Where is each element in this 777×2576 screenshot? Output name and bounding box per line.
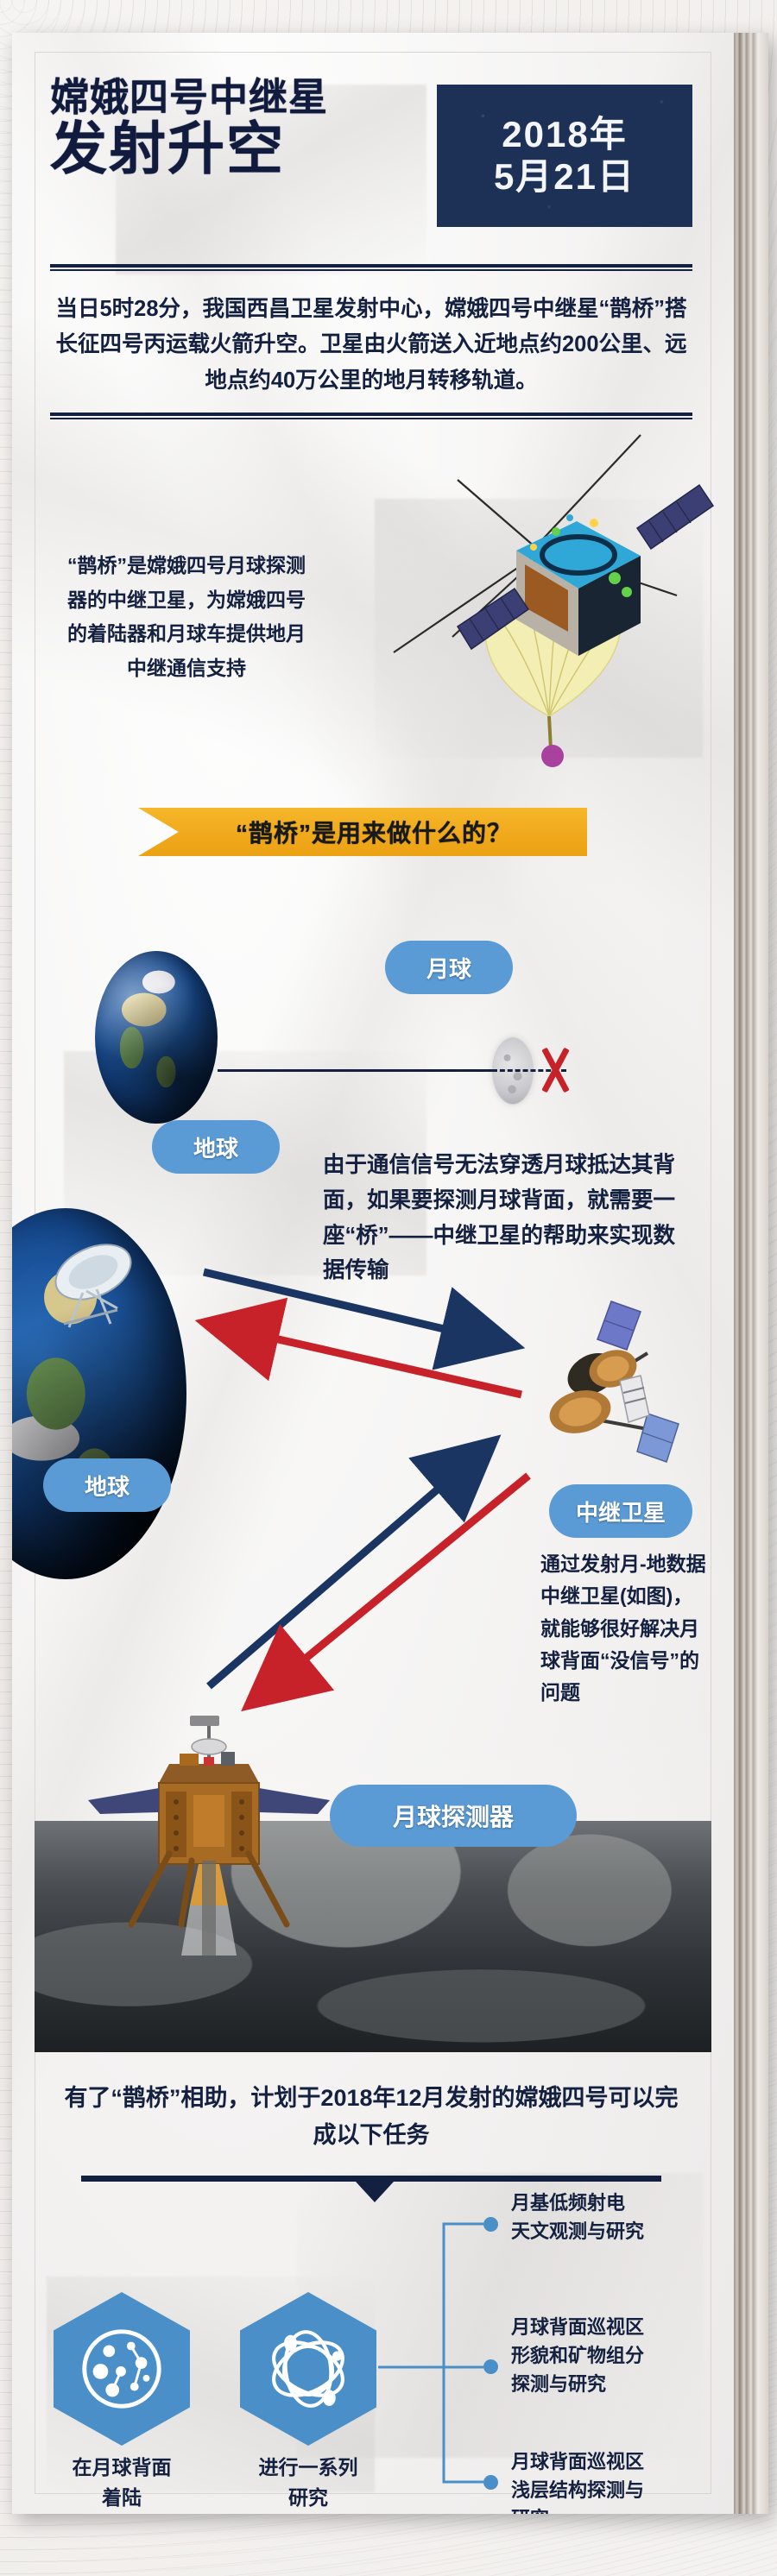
page-title: 嫦娥四号中继星 发射升空	[50, 78, 421, 177]
task-dot	[483, 2217, 498, 2232]
moon-craters-icon	[75, 2322, 168, 2415]
hexagon-label-research: 进行一系列研究	[231, 2453, 386, 2512]
label-moon: 月球	[385, 941, 513, 994]
relay-diagram: 地球 中继卫星 通过发射月-地数据中继卫星(如图)，就能够很好解决月球背面“没信…	[12, 1241, 734, 1690]
satellite-section: “鹊桥”是嫦娥四号月球探测器的中继卫星，为嫦娥四号的着陆器和月球车提供地月中继通…	[12, 438, 734, 784]
label-relay-satellite: 中继卫星	[549, 1484, 692, 1538]
relay-paragraph: 通过发射月-地数据中继卫星(如图)，就能够很好解决月球背面“没信号”的问题	[540, 1548, 710, 1709]
signal-path-line	[218, 1069, 492, 1072]
task-dot	[483, 2359, 498, 2374]
intro-paragraph: 当日5时28分，我国西昌卫星发射中心，嫦娥四号中继星“鹊桥”搭长征四号丙运载火箭…	[50, 292, 692, 399]
earth-globe	[95, 951, 218, 1124]
task-item: 月球背面巡视区形貌和矿物组分探测与研究	[511, 2313, 696, 2398]
task-item: 月基低频射电天文观测与研究	[511, 2189, 696, 2245]
atom-orbit-icon	[260, 2321, 357, 2417]
date-day: 5月21日	[494, 158, 635, 196]
section-banner-text: “鹊桥”是用来做什么的？	[213, 815, 512, 849]
label-earth: 地球	[152, 1120, 280, 1174]
infographic-page: 嫦娥四号中继星 发射升空 2018年 5月21日 当日5时28分，我国西昌卫星发…	[12, 33, 734, 2514]
divider-top	[50, 264, 692, 271]
label-earth-large: 地球	[43, 1458, 171, 1512]
date-year: 2018年	[502, 116, 627, 154]
title-line-secondary: 发射升空	[50, 120, 421, 177]
queqiao-relay-satellite-illustration	[356, 426, 718, 772]
satellite-caption: “鹊桥”是嫦娥四号月球探测器的中继卫星，为嫦娥四号的着陆器和月球车提供地月中继通…	[62, 549, 311, 685]
tasks-divider	[81, 2176, 661, 2182]
earth-moon-diagram: 月球 地球 由于通信信号无法穿透月球抵达其背面，如果要探测月球背面，就需要一座“…	[12, 879, 734, 1250]
lunar-surface-scene: 月球探测器	[35, 1690, 711, 2052]
divider-below-intro	[50, 413, 692, 419]
task-item: 月球背面巡视区浅层结构探测与研究	[511, 2447, 696, 2514]
hexagon-label-landing: 在月球背面着陆	[44, 2453, 199, 2512]
blocked-x-icon	[537, 1048, 575, 1093]
relay-satellite-icon	[518, 1291, 708, 1472]
tasks-section: 在月球背面着陆 进行一系列研究 月基低频射电天文观测与研究 月球背面巡视区形貌和…	[12, 2216, 734, 2510]
header: 嫦娥四号中继星 发射升空 2018年 5月21日	[50, 78, 692, 250]
title-line-primary: 嫦娥四号中继星	[50, 78, 421, 117]
tasks-caret-icon	[356, 2182, 394, 2202]
date-badge: 2018年 5月21日	[437, 85, 692, 227]
label-lunar-probe: 月球探测器	[330, 1785, 577, 1847]
closing-statement: 有了“鹊桥”相助，计划于2018年12月发射的嫦娥四号可以完成以下任务	[62, 2080, 680, 2153]
section-banner: “鹊桥”是用来做什么的？	[138, 808, 587, 856]
change4-lunar-lander	[79, 1709, 338, 1959]
task-dot	[483, 2475, 498, 2490]
